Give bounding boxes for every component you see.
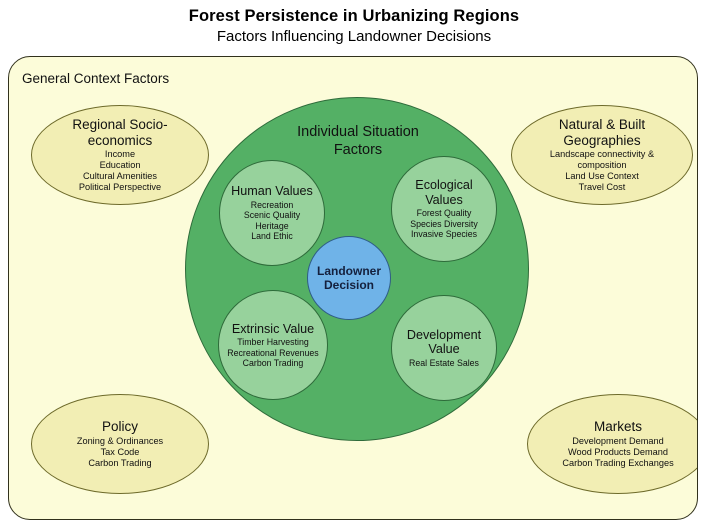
context-title: Natural & BuiltGeographies — [545, 117, 659, 148]
page-subtitle: Factors Influencing Landowner Decisions — [0, 27, 708, 47]
factor-items: RecreationScenic QualityHeritageLand Eth… — [240, 200, 304, 242]
factor-circle-development-value[interactable]: DevelopmentValue Real Estate Sales — [391, 295, 497, 401]
factor-circle-ecological-values[interactable]: EcologicalValues Forest QualitySpecies D… — [391, 156, 497, 262]
landowner-decision-label: LandownerDecision — [317, 264, 381, 292]
factor-circle-human-values[interactable]: Human Values RecreationScenic QualityHer… — [219, 160, 325, 266]
general-context-factors-label: General Context Factors — [22, 71, 169, 86]
factor-title: Extrinsic Value — [226, 322, 320, 337]
page-title: Forest Persistence in Urbanizing Regions — [0, 6, 708, 26]
factor-items: Forest QualitySpecies DiversityInvasive … — [406, 208, 481, 239]
title-block: Forest Persistence in Urbanizing Regions… — [0, 6, 708, 47]
general-context-factors-panel: General Context Factors Regional Socio-e… — [8, 56, 698, 520]
context-title: Policy — [88, 419, 152, 435]
factor-circle-extrinsic-value[interactable]: Extrinsic Value Timber HarvestingRecreat… — [218, 290, 328, 400]
factor-title: Human Values — [225, 184, 319, 199]
factor-title: DevelopmentValue — [401, 328, 487, 357]
factor-items: Real Estate Sales — [405, 358, 483, 368]
factor-title: EcologicalValues — [409, 178, 478, 207]
context-title: Regional Socio-economics — [58, 117, 181, 148]
individual-situation-factors-circle: Individual SituationFactors Human Values… — [185, 97, 529, 441]
context-ellipse-regional-socio-economics[interactable]: Regional Socio-economics IncomeEducation… — [31, 105, 209, 205]
context-title: Markets — [580, 419, 656, 435]
context-items: Landscape connectivity &compositionLand … — [538, 149, 666, 193]
context-items: IncomeEducationCultural AmenitiesPolitic… — [67, 149, 173, 193]
context-ellipse-policy[interactable]: Policy Zoning & OrdinancesTax CodeCarbon… — [31, 394, 209, 494]
context-ellipse-natural-built-geographies[interactable]: Natural & BuiltGeographies Landscape con… — [511, 105, 693, 205]
context-items: Zoning & OrdinancesTax CodeCarbon Tradin… — [65, 436, 175, 469]
individual-situation-factors-title: Individual SituationFactors — [186, 123, 530, 159]
context-ellipse-markets[interactable]: Markets Development DemandWood Products … — [527, 394, 698, 494]
landowner-decision-circle[interactable]: LandownerDecision — [307, 236, 391, 320]
context-items: Development DemandWood Products DemandCa… — [550, 436, 685, 469]
factor-items: Timber HarvestingRecreational RevenuesCa… — [223, 337, 322, 368]
